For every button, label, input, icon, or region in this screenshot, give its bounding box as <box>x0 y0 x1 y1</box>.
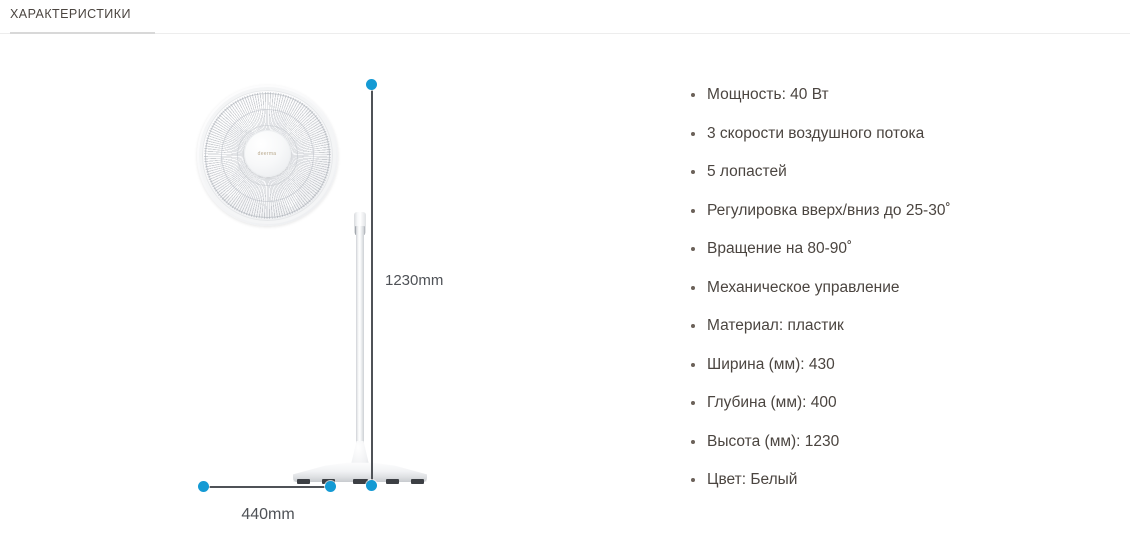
content-area: deerma 1230mm 440mm Мощность: 40 Вт 3 ск… <box>0 36 1130 547</box>
width-dimension-handle-right <box>325 481 336 492</box>
fan-head-icon: deerma <box>197 85 338 226</box>
height-dimension-line <box>371 84 373 486</box>
width-dimension-line <box>203 486 331 488</box>
list-item: Вращение на 80-90˚ <box>686 230 1106 269</box>
header-divider <box>0 33 1130 34</box>
list-item: 5 лопастей <box>686 153 1106 192</box>
width-dimension-label: 440mm <box>204 506 332 524</box>
width-dimension-handle-left <box>198 481 209 492</box>
list-item: Материал: пластик <box>686 307 1106 346</box>
specifications-list: Мощность: 40 Вт 3 скорости воздушного по… <box>686 76 1106 500</box>
list-item: Регулировка вверх/вниз до 25-30˚ <box>686 192 1106 231</box>
height-dimension-handle-top <box>366 79 377 90</box>
fan-pole <box>356 226 364 456</box>
list-item: 3 скорости воздушного потока <box>686 115 1106 154</box>
list-item: Ширина (мм): 430 <box>686 346 1106 385</box>
section-header: ХАРАКТЕРИСТИКИ <box>0 0 1130 36</box>
brand-logo: deerma <box>258 151 277 157</box>
list-item: Цвет: Белый <box>686 461 1106 500</box>
page-title: ХАРАКТЕРИСТИКИ <box>10 7 131 21</box>
fan-base-foot <box>386 479 399 484</box>
product-figure: deerma 1230mm 440mm <box>150 36 570 547</box>
height-dimension-handle-bottom <box>366 480 377 491</box>
fan-base-foot <box>411 479 424 484</box>
header-active-underline <box>10 32 155 34</box>
list-item: Механическое управление <box>686 269 1106 308</box>
fan-hub: deerma <box>244 130 291 177</box>
fan-base-foot <box>297 479 310 484</box>
height-dimension-label: 1230mm <box>385 272 443 289</box>
list-item: Высота (мм): 1230 <box>686 423 1106 462</box>
list-item: Глубина (мм): 400 <box>686 384 1106 423</box>
list-item: Мощность: 40 Вт <box>686 76 1106 115</box>
